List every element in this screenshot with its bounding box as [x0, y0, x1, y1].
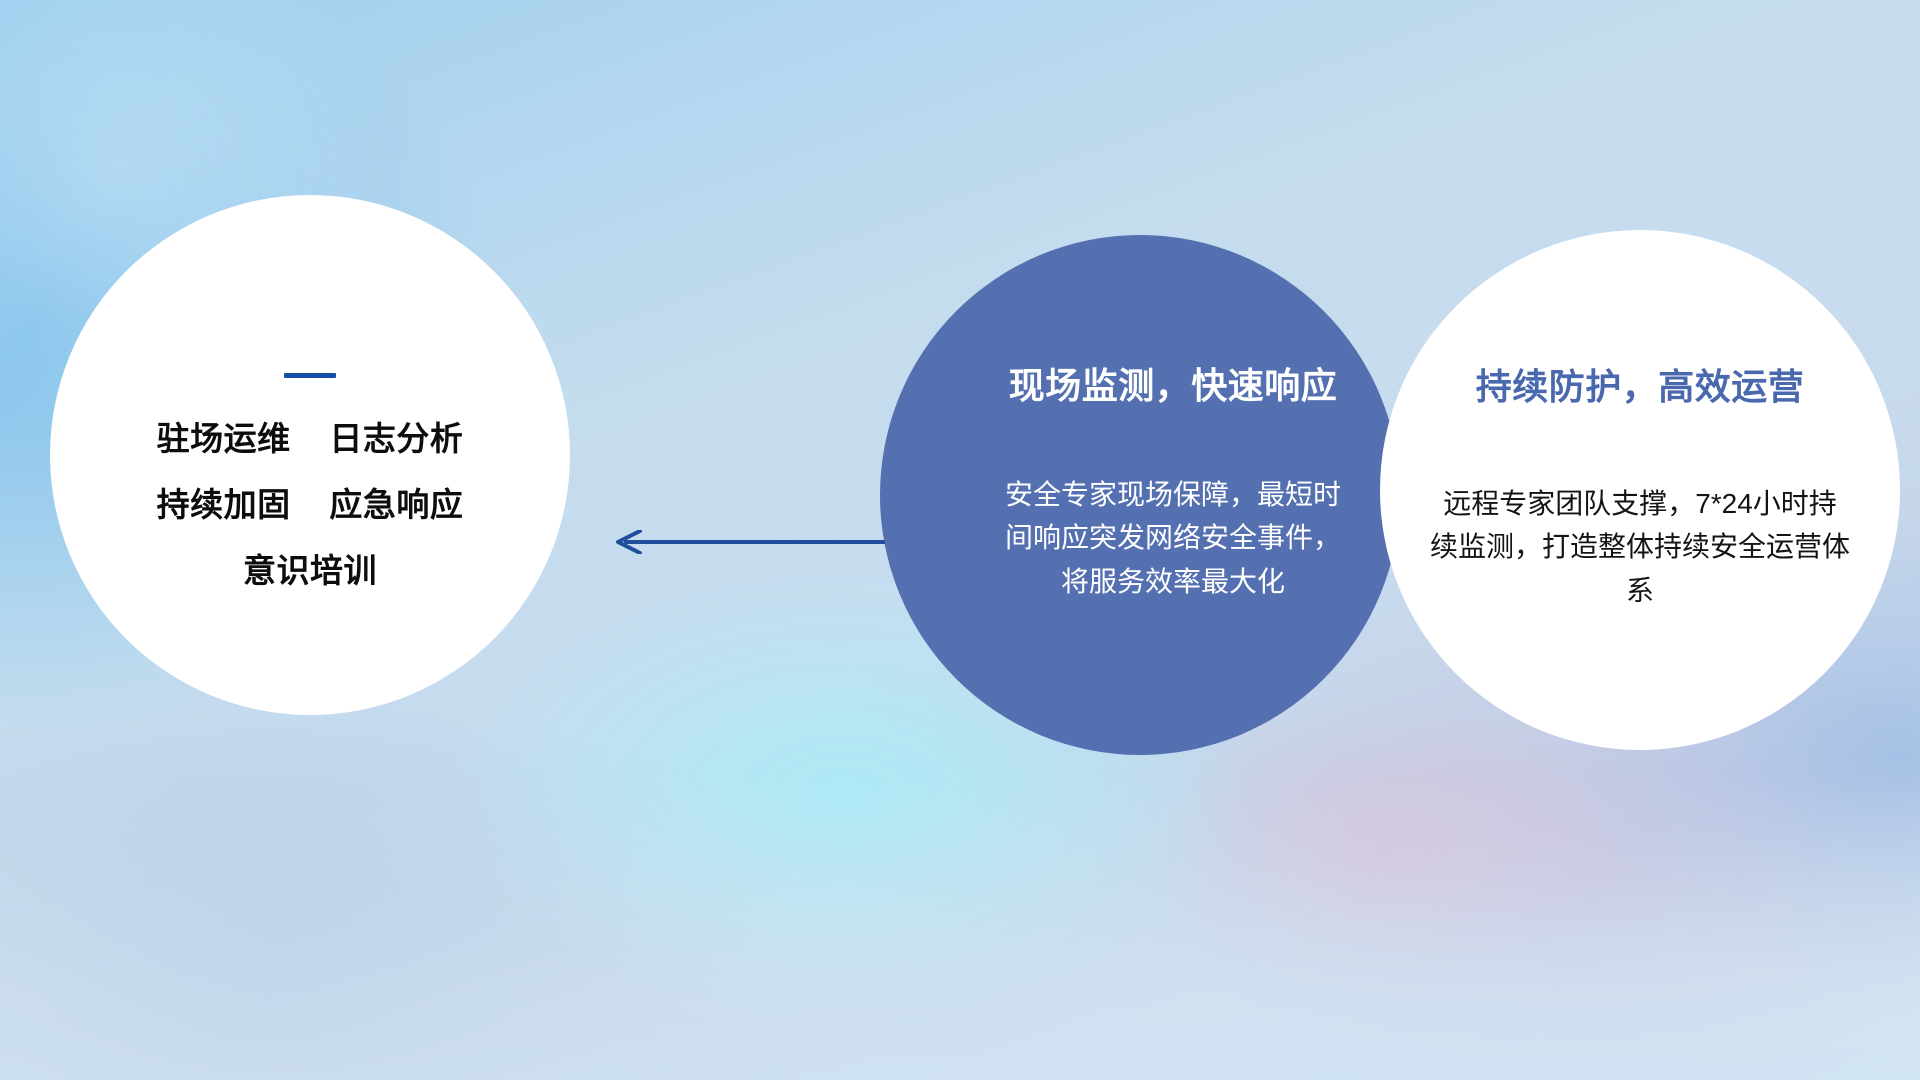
middle-circle-body: 安全专家现场保障，最短时间响应突发网络安全事件，将服务效率最大化 [1003, 473, 1343, 603]
right-service-circle[interactable]: 持续防护，高效运营 远程专家团队支撑，7*24小时持续监测，打造整体持续安全运营… [1380, 230, 1900, 750]
middle-circle-title: 现场监测，快速响应 [1009, 357, 1338, 409]
right-circle-content: 持续防护，高效运营 远程专家团队支撑，7*24小时持续监测，打造整体持续安全运营… [1380, 230, 1900, 750]
left-circle-content: 驻场运维 日志分析 持续加固 应急响应 意识培训 [50, 195, 570, 715]
left-circle-line-3: 意识培训 [243, 552, 377, 590]
divider-dash-icon [284, 373, 336, 378]
left-circle-line-1: 驻场运维 日志分析 [157, 420, 464, 458]
flow-arrow-left-icon [610, 530, 885, 554]
middle-circle-content: 现场监测，快速响应 安全专家现场保障，最短时间响应突发网络安全事件，将服务效率最… [880, 235, 1400, 755]
left-circle-line-2: 持续加固 应急响应 [157, 486, 464, 524]
slide-canvas: 驻场运维 日志分析 持续加固 应急响应 意识培训 现场监测，快速响应 安全专家现… [0, 0, 1920, 1080]
right-circle-body: 远程专家团队支撑，7*24小时持续监测，打造整体持续安全运营体系 [1430, 482, 1850, 612]
left-service-circle[interactable]: 驻场运维 日志分析 持续加固 应急响应 意识培训 [50, 195, 570, 715]
middle-service-circle[interactable]: 现场监测，快速响应 安全专家现场保障，最短时间响应突发网络安全事件，将服务效率最… [880, 235, 1400, 755]
right-circle-title: 持续防护，高效运营 [1476, 358, 1805, 410]
